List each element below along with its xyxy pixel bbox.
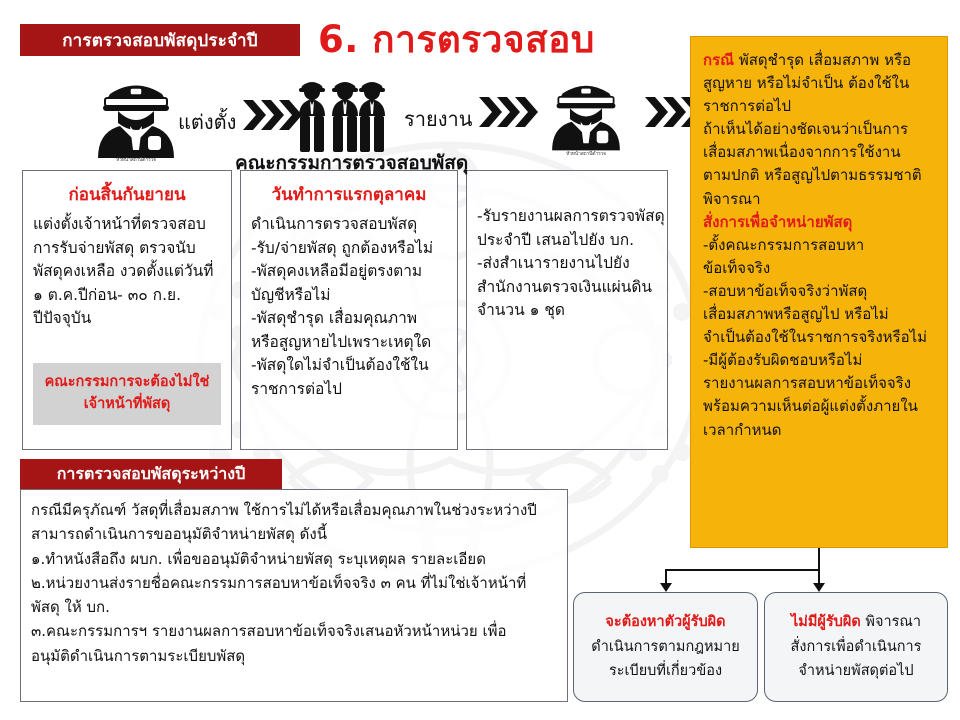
section-line: สามารถดำเนินการขออนุมัติจำหน่ายพัสดุ ดัง… bbox=[31, 522, 557, 546]
yellow-line: -มีผู้ต้องรับผิดชอบหรือไม่ bbox=[703, 349, 937, 372]
column-body: แต่งตั้งเจ้าหน้าที่ตรวจสอบ การรับจ่ายพัส… bbox=[33, 213, 221, 331]
column-body: ดำเนินการตรวจสอบพัสดุ -รับ/จ่ายพัสดุ ถูก… bbox=[251, 213, 447, 401]
yellow-line: ตามปกติ หรือสูญไปตามธรรมชาติ bbox=[703, 164, 937, 187]
column-line: -พัสดุคงเหลือมีอยู่ตรงตาม bbox=[251, 260, 447, 284]
column-heading: วันทำการแรกตุลาคม bbox=[251, 181, 447, 208]
section-line: ๓.คณะกรรมการฯ รายงานผลการสอบหาข้อเท็จจริ… bbox=[31, 619, 557, 643]
outcome-line: ระเบียบที่เกี่ยวข้อง bbox=[609, 659, 722, 684]
outcome-box-liable: จะต้องหาตัวผู้รับผิด ดำเนินการตามกฎหมาย … bbox=[573, 592, 758, 702]
column-body: -รับรายงานผลการตรวจพัสดุ ประจำปี เสนอไปย… bbox=[477, 205, 657, 323]
column-line: -รับรายงานผลการตรวจพัสดุ bbox=[477, 205, 657, 229]
officer-caption-2: หัวหน้าสถานีตำรวจ bbox=[545, 150, 627, 158]
interim-audit-box: กรณีมีครุภัณฑ์ วัสดุที่เสื่อมสภาพ ใช้การ… bbox=[20, 489, 568, 702]
column-line: บัญชีหรือไม่ bbox=[251, 284, 447, 308]
police-officer-icon-2: หัวหน้าสถานีตำรวจ bbox=[545, 72, 627, 158]
section-badge-interim-audit: การตรวจสอบพัสดุระหว่างปี bbox=[20, 459, 282, 489]
column-line: พัสดุคงเหลือ งวดตั้งแต่วันที่ bbox=[33, 260, 221, 284]
yellow-line: ราชการต่อไป bbox=[703, 95, 937, 118]
yellow-line: สูญหาย หรือไม่จำเป็น ต้องใช้ใน bbox=[703, 72, 937, 95]
yellow-line-rest: พัสดุชำรุด เสื่อมสภาพ หรือ bbox=[734, 51, 911, 69]
flow-connector-lines bbox=[560, 540, 960, 600]
outcome-heading: จะต้องหาตัวผู้รับผิด bbox=[605, 610, 725, 635]
disposal-procedure-panel: กรณี พัสดุชำรุด เสื่อมสภาพ หรือ สูญหาย ห… bbox=[690, 36, 948, 548]
police-officer-icon: หัวหน้าสถานีตำรวจ bbox=[90, 72, 182, 164]
column-line: ดำเนินการตรวจสอบพัสดุ bbox=[251, 213, 447, 237]
section-line: พัสดุ ให้ บก. bbox=[31, 595, 557, 619]
info-column-first-working-day-october: วันทำการแรกตุลาคม ดำเนินการตรวจสอบพัสดุ … bbox=[240, 170, 458, 450]
yellow-line: พร้อมความเห็นต่อผู้แต่งตั้งภายใน bbox=[703, 395, 937, 418]
note-line: เจ้าหน้าที่พัสดุ bbox=[37, 394, 217, 416]
outcome-heading-rest: พิจารณา bbox=[861, 614, 921, 630]
yellow-line: เวลากำหนด bbox=[703, 419, 937, 442]
yellow-line: ข้อเท็จจริง bbox=[703, 257, 937, 280]
yellow-line: -สอบหาข้อเท็จจริงว่าพัสดุ bbox=[703, 280, 937, 303]
column-line: ประจำปี เสนอไปยัง บก. bbox=[477, 229, 657, 253]
column-line: สำนักงานตรวจเงินแผ่นดิน bbox=[477, 276, 657, 300]
process-flow-row: หัวหน้าสถานีตำรวจ แต่งตั้ง bbox=[0, 60, 690, 170]
column-line: ปีปัจจุบัน bbox=[33, 307, 221, 331]
outcome-line: สั่งการเพื่อดำเนินการ bbox=[791, 635, 922, 660]
column-line: ราชการต่อไป bbox=[251, 378, 447, 402]
outcome-line: จำหน่ายพัสดุต่อไป bbox=[798, 659, 913, 684]
column-line: -รับ/จ่ายพัสดุ ถูกต้องหรือไม่ bbox=[251, 237, 447, 261]
column-line: จำนวน ๑ ชุด bbox=[477, 299, 657, 323]
section-line: อนุมัติดำเนินการตามระเบียบพัสดุ bbox=[31, 644, 557, 668]
section-line: กรณีมีครุภัณฑ์ วัสดุที่เสื่อมสภาพ ใช้การ… bbox=[31, 498, 557, 522]
committee-restriction-note: คณะกรรมการจะต้องไม่ใช่ เจ้าหน้าที่พัสดุ bbox=[33, 363, 221, 425]
yellow-line-first: กรณี พัสดุชำรุด เสื่อมสภาพ หรือ bbox=[703, 49, 937, 72]
yellow-line: เสื่อมสภาพหรือสูญไป หรือไม่ bbox=[703, 303, 937, 326]
three-officers-icon bbox=[296, 74, 390, 154]
yellow-line: จำเป็นต้องใช้ในราชการจริงหรือไม่ bbox=[703, 326, 937, 349]
column-line: แต่งตั้งเจ้าหน้าที่ตรวจสอบ bbox=[33, 213, 221, 237]
flow-label-report: รายงาน bbox=[404, 103, 472, 135]
outcome-keyword: ไม่มีผู้รับผิด bbox=[791, 614, 861, 630]
note-line: คณะกรรมการจะต้องไม่ใช่ bbox=[37, 372, 217, 394]
section-line: ๑.ทำหนังสือถึง ผบก. เพื่อขออนุมัติจำหน่า… bbox=[31, 547, 557, 571]
column-line: การรับจ่ายพัสดุ ตรวจนับ bbox=[33, 237, 221, 261]
column-line: -พัสดุชำรุด เสื่อมคุณภาพ bbox=[251, 307, 447, 331]
flow-label-appoint: แต่งตั้ง bbox=[178, 106, 236, 138]
info-column-before-september: ก่อนสิ้นกันยายน แต่งตั้งเจ้าหน้าที่ตรวจส… bbox=[22, 170, 232, 450]
yellow-line: ถ้าเห็นได้อย่างชัดเจนว่าเป็นการ bbox=[703, 118, 937, 141]
column-line: -พัสดุใดไม่จำเป็นต้องใช้ใน bbox=[251, 354, 447, 378]
yellow-line: เสื่อมสภาพเนื่องจากการใช้งาน bbox=[703, 141, 937, 164]
outcome-heading: ไม่มีผู้รับผิด พิจารณา bbox=[791, 610, 921, 635]
column-line: ๑ ต.ค.ปีก่อน- ๓๐ ก.ย. bbox=[33, 284, 221, 308]
info-column-report-results: -รับรายงานผลการตรวจพัสดุ ประจำปี เสนอไปย… bbox=[466, 170, 668, 450]
section-line: ๒.หน่วยงานส่งรายชื่อคณะกรรมการสอบหาข้อเท… bbox=[31, 571, 557, 595]
header-badge: การตรวจสอบพัสดุประจำปี bbox=[20, 24, 300, 56]
triple-chevron-right-icon-2 bbox=[479, 95, 541, 129]
column-line: -ส่งสำเนารายงานไปยัง bbox=[477, 252, 657, 276]
column-line: หรือสูญหายไปเพราะเหตุใด bbox=[251, 331, 447, 355]
committee-label: คณะกรรมการตรวจสอบพัสดุ bbox=[235, 148, 468, 178]
yellow-keyword: กรณี bbox=[703, 51, 734, 69]
header-badge-label: การตรวจสอบพัสดุประจำปี bbox=[62, 27, 258, 54]
yellow-line: -ตั้งคณะกรรมการสอบหา bbox=[703, 234, 937, 257]
yellow-line: พิจารณา bbox=[703, 188, 937, 211]
outcome-keyword: จะต้องหาตัวผู้รับผิด bbox=[605, 614, 725, 630]
yellow-line: รายงานผลการสอบหาข้อเท็จจริง bbox=[703, 372, 937, 395]
yellow-highlight-heading: สั่งการเพื่อจำหน่ายพัสดุ bbox=[703, 211, 937, 234]
column-heading: ก่อนสิ้นกันยายน bbox=[33, 181, 221, 208]
outcome-box-not-liable: ไม่มีผู้รับผิด พิจารณา สั่งการเพื่อดำเนิ… bbox=[764, 592, 948, 702]
section-badge-label: การตรวจสอบพัสดุระหว่างปี bbox=[57, 462, 246, 487]
outcome-line: ดำเนินการตามกฎหมาย bbox=[591, 635, 739, 660]
